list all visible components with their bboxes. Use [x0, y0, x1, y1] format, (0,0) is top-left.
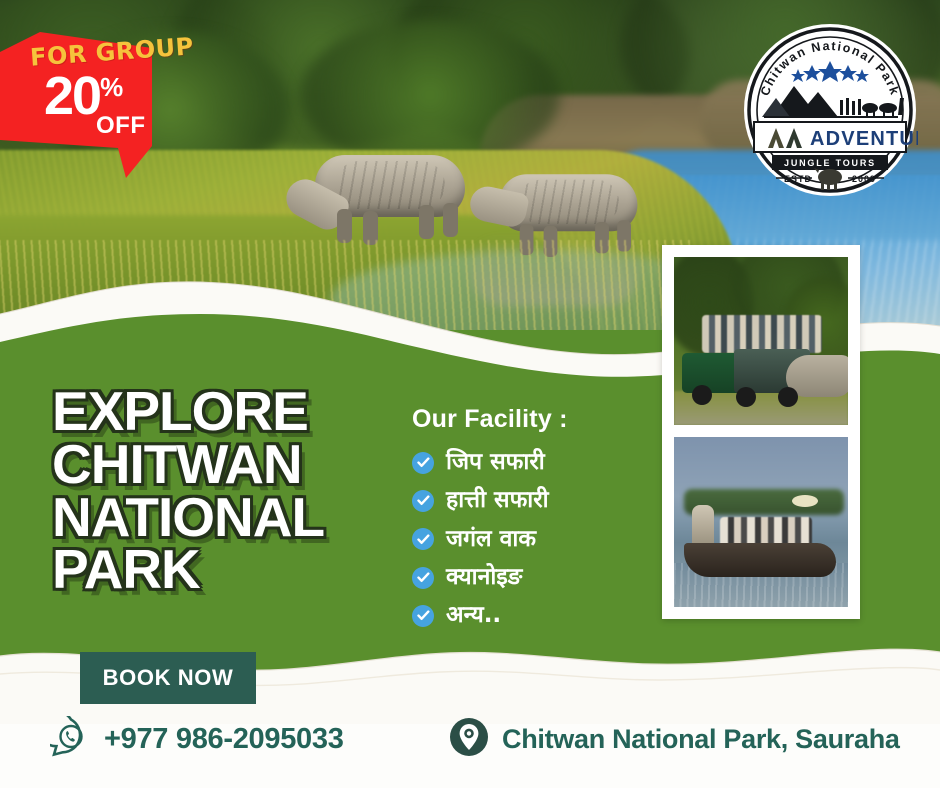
check-circle-icon	[412, 490, 434, 512]
forest-canopy	[300, 20, 560, 170]
canoe-ride-photo[interactable]	[674, 437, 848, 607]
headline-line-4: PARK	[52, 543, 412, 596]
headline-line-3: NATIONAL	[52, 491, 412, 544]
facility-title: Our Facility :	[412, 405, 642, 434]
check-circle-icon	[412, 567, 434, 589]
facility-label: जगंल वाक	[446, 527, 536, 552]
book-now-button[interactable]: BOOK NOW	[80, 652, 256, 704]
promo-off-label: OFF	[96, 112, 146, 140]
facility-item: अन्य..	[412, 603, 642, 628]
book-now-label: BOOK NOW	[103, 665, 234, 691]
page-title: EXPLORE CHITWAN NATIONAL PARK	[52, 385, 412, 596]
svg-text:JUNGLE TOURS: JUNGLE TOURS	[784, 158, 876, 168]
photo-gallery	[662, 245, 860, 619]
facility-label: अन्य..	[446, 603, 501, 628]
check-circle-icon	[412, 452, 434, 474]
svg-text:ADVENTURE: ADVENTURE	[810, 128, 918, 150]
footer-contact-bar: +977 986-2095033 Chitwan National Park, …	[0, 702, 940, 788]
check-circle-icon	[412, 605, 434, 627]
facility-item: जगंल वाक	[412, 527, 642, 552]
headline-line-2: CHITWAN	[52, 438, 412, 491]
facility-item: क्यानोइङ	[412, 565, 642, 590]
location-contact[interactable]: Chitwan National Park, Sauraha	[448, 716, 900, 763]
location-pin-icon	[448, 716, 490, 763]
jeep-safari-photo[interactable]	[674, 257, 848, 425]
check-circle-icon	[412, 528, 434, 550]
phone-contact[interactable]: +977 986-2095033	[50, 716, 344, 763]
facility-item: हात्ती सफारी	[412, 488, 642, 513]
poster-canvas: FOR GROUP 20 % OFF Chitwan National Park	[0, 0, 940, 788]
svg-text:2009: 2009	[852, 174, 876, 184]
headline-line-1: EXPLORE	[52, 385, 412, 438]
location-text: Chitwan National Park, Sauraha	[502, 724, 900, 755]
brand-logo-badge[interactable]: Chitwan National Park	[742, 22, 918, 198]
facility-label: क्यानोइङ	[446, 565, 522, 590]
promo-number: 20	[44, 72, 100, 122]
facility-label: हात्ती सफारी	[446, 488, 549, 513]
facility-label: जिप सफारी	[446, 450, 545, 475]
whatsapp-icon	[50, 716, 92, 763]
facility-list-section: Our Facility : जिप सफारी हात्ती सफारी जग…	[412, 405, 642, 641]
facility-item: जिप सफारी	[412, 450, 642, 475]
promo-percent-sign: %	[100, 74, 123, 100]
svg-text:ESTD: ESTD	[784, 174, 812, 184]
phone-number: +977 986-2095033	[104, 723, 344, 756]
